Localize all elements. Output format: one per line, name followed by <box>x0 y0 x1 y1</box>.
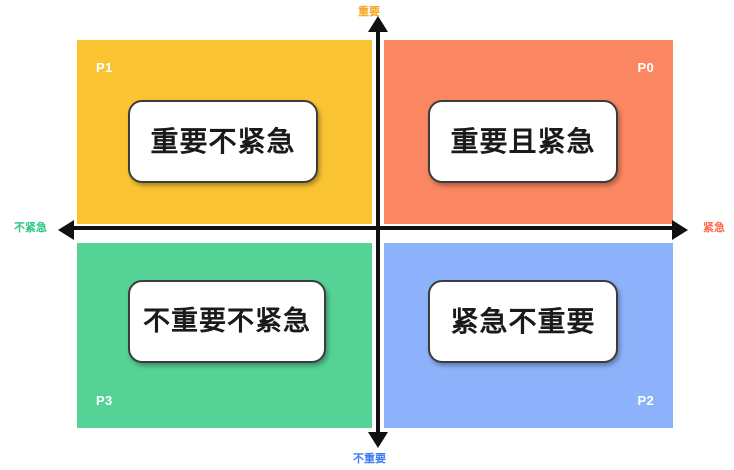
quadrant-title-box-p3: 不重要不紧急 <box>128 280 326 363</box>
axis-label-not-urgent: 不紧急 <box>14 222 47 233</box>
arrow-right-icon <box>672 220 688 240</box>
quadrant-code-p3: P3 <box>96 394 113 407</box>
quadrant-title-box-p2: 紧急不重要 <box>428 280 618 363</box>
arrow-down-icon <box>368 432 388 448</box>
quadrant-title-p0: 重要且紧急 <box>450 128 595 156</box>
quadrant-title-p1: 重要不紧急 <box>150 128 295 156</box>
vertical-axis-line <box>376 28 380 432</box>
axis-label-urgent: 紧急 <box>703 222 725 233</box>
quadrant-title-p2: 紧急不重要 <box>450 308 595 336</box>
quadrant-title-p3: 不重要不紧急 <box>143 308 311 335</box>
eisenhower-matrix-diagram: P1 P0 P3 P2 重要 不重要 不紧急 紧急 重要不紧急 重要且紧急 不重… <box>0 0 734 470</box>
arrow-left-icon <box>58 220 74 240</box>
quadrant-title-box-p0: 重要且紧急 <box>428 100 618 183</box>
axis-label-important: 重要 <box>358 6 380 17</box>
horizontal-axis-line <box>66 226 674 230</box>
quadrant-code-p2: P2 <box>637 394 654 407</box>
axis-label-not-important: 不重要 <box>353 453 386 464</box>
quadrant-title-box-p1: 重要不紧急 <box>128 100 318 183</box>
quadrant-code-p1: P1 <box>96 61 113 74</box>
quadrant-code-p0: P0 <box>637 61 654 74</box>
arrow-up-icon <box>368 16 388 32</box>
